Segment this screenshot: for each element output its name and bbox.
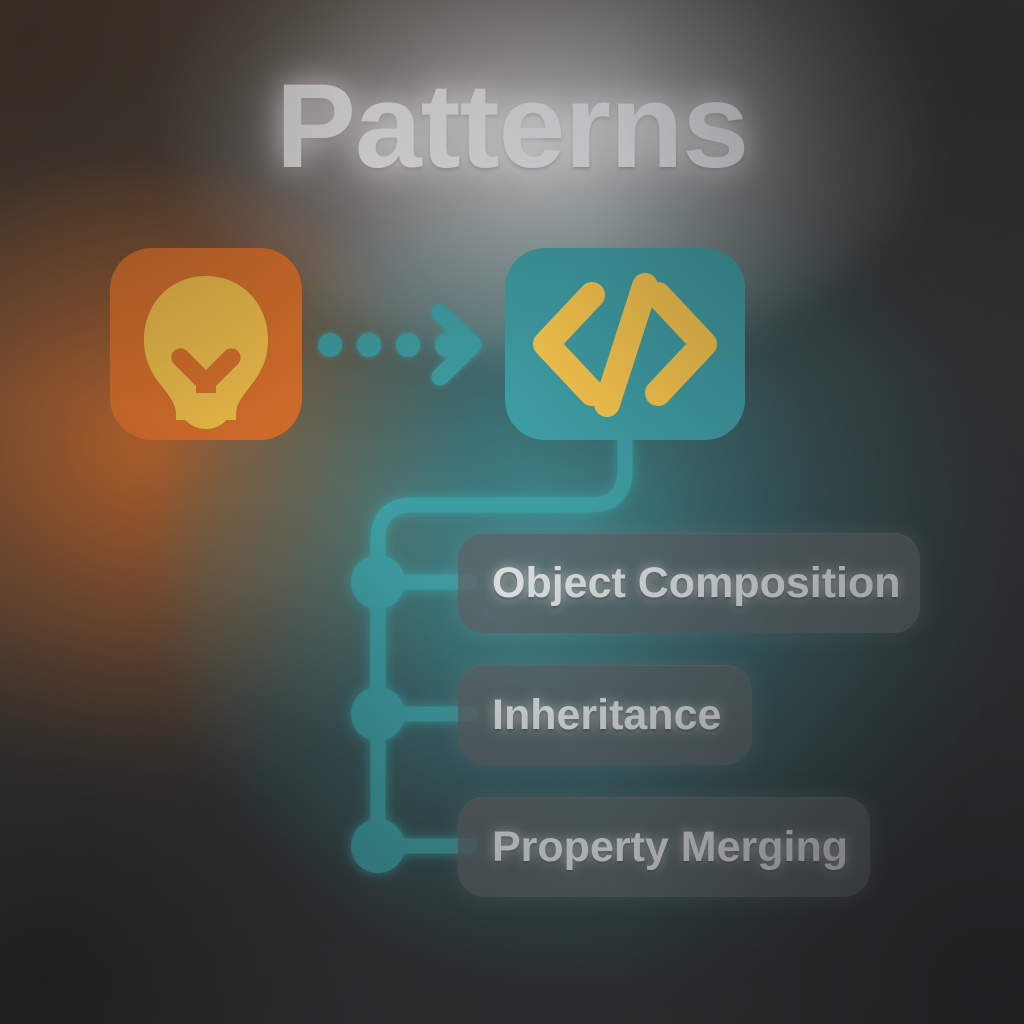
leaf-label: Inheritance [492, 691, 721, 740]
idea-node[interactable] [110, 248, 302, 440]
leaf-card-inheritance[interactable]: Inheritance [458, 665, 752, 765]
leaf-label: Object Composition [492, 559, 901, 608]
leaf-card-property-merging[interactable]: Property Merging [458, 797, 870, 897]
code-node[interactable] [505, 248, 745, 440]
tree-node-0 [351, 555, 405, 609]
leaf-label: Property Merging [492, 823, 848, 872]
dotted-arrow-icon [318, 313, 473, 377]
poster-canvas: Patterns [0, 0, 1024, 1024]
leaf-card-object-composition[interactable]: Object Composition [458, 533, 920, 633]
tree-node-1 [351, 687, 405, 741]
tree-node-2 [351, 819, 405, 873]
